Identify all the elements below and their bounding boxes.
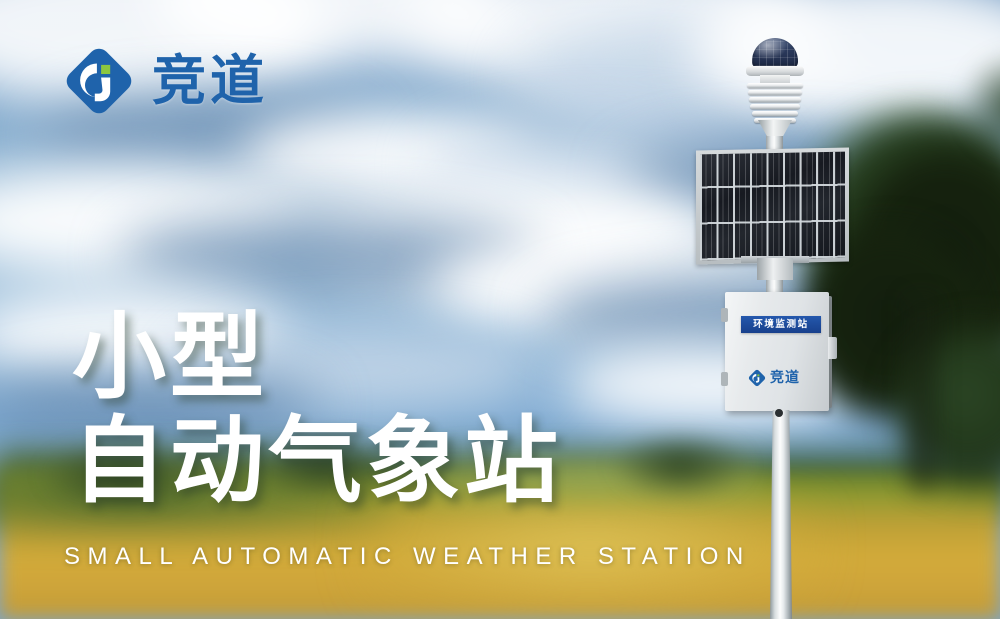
product-promo-banner: 环境监测站 竞道 竞道 [0,0,1000,619]
headline-line-2: 自动气象站 [72,410,692,514]
control-box-latch [828,337,837,359]
brand-name: 竞道 [152,54,268,108]
headline-line-1: 小型 [72,306,692,410]
control-box [725,292,829,411]
control-box-hinge [721,372,728,386]
sensor-base-cone [758,120,792,136]
subtitle: SMALL AUTOMATIC WEATHER STATION [64,543,751,571]
solar-panel-mount [757,258,793,280]
radiation-shield [746,83,804,123]
control-box-banner: 环境监测站 [741,316,821,333]
jingdao-diamond-logo-icon [748,369,766,387]
control-box-brand-logo: 竞道 [748,368,816,388]
headline-block: 小型 自动气象站 [72,306,692,514]
brand-logo[interactable]: 竞道 [64,46,268,116]
control-box-brand-name: 竞道 [770,371,800,385]
jingdao-diamond-logo-icon [64,46,134,116]
pole-screw [775,409,783,417]
control-box-hinge [721,308,728,322]
support-pole [770,410,792,619]
solar-panel [696,148,849,265]
solar-panel-cells [700,152,845,261]
control-box-banner-label: 环境监测站 [753,320,809,330]
